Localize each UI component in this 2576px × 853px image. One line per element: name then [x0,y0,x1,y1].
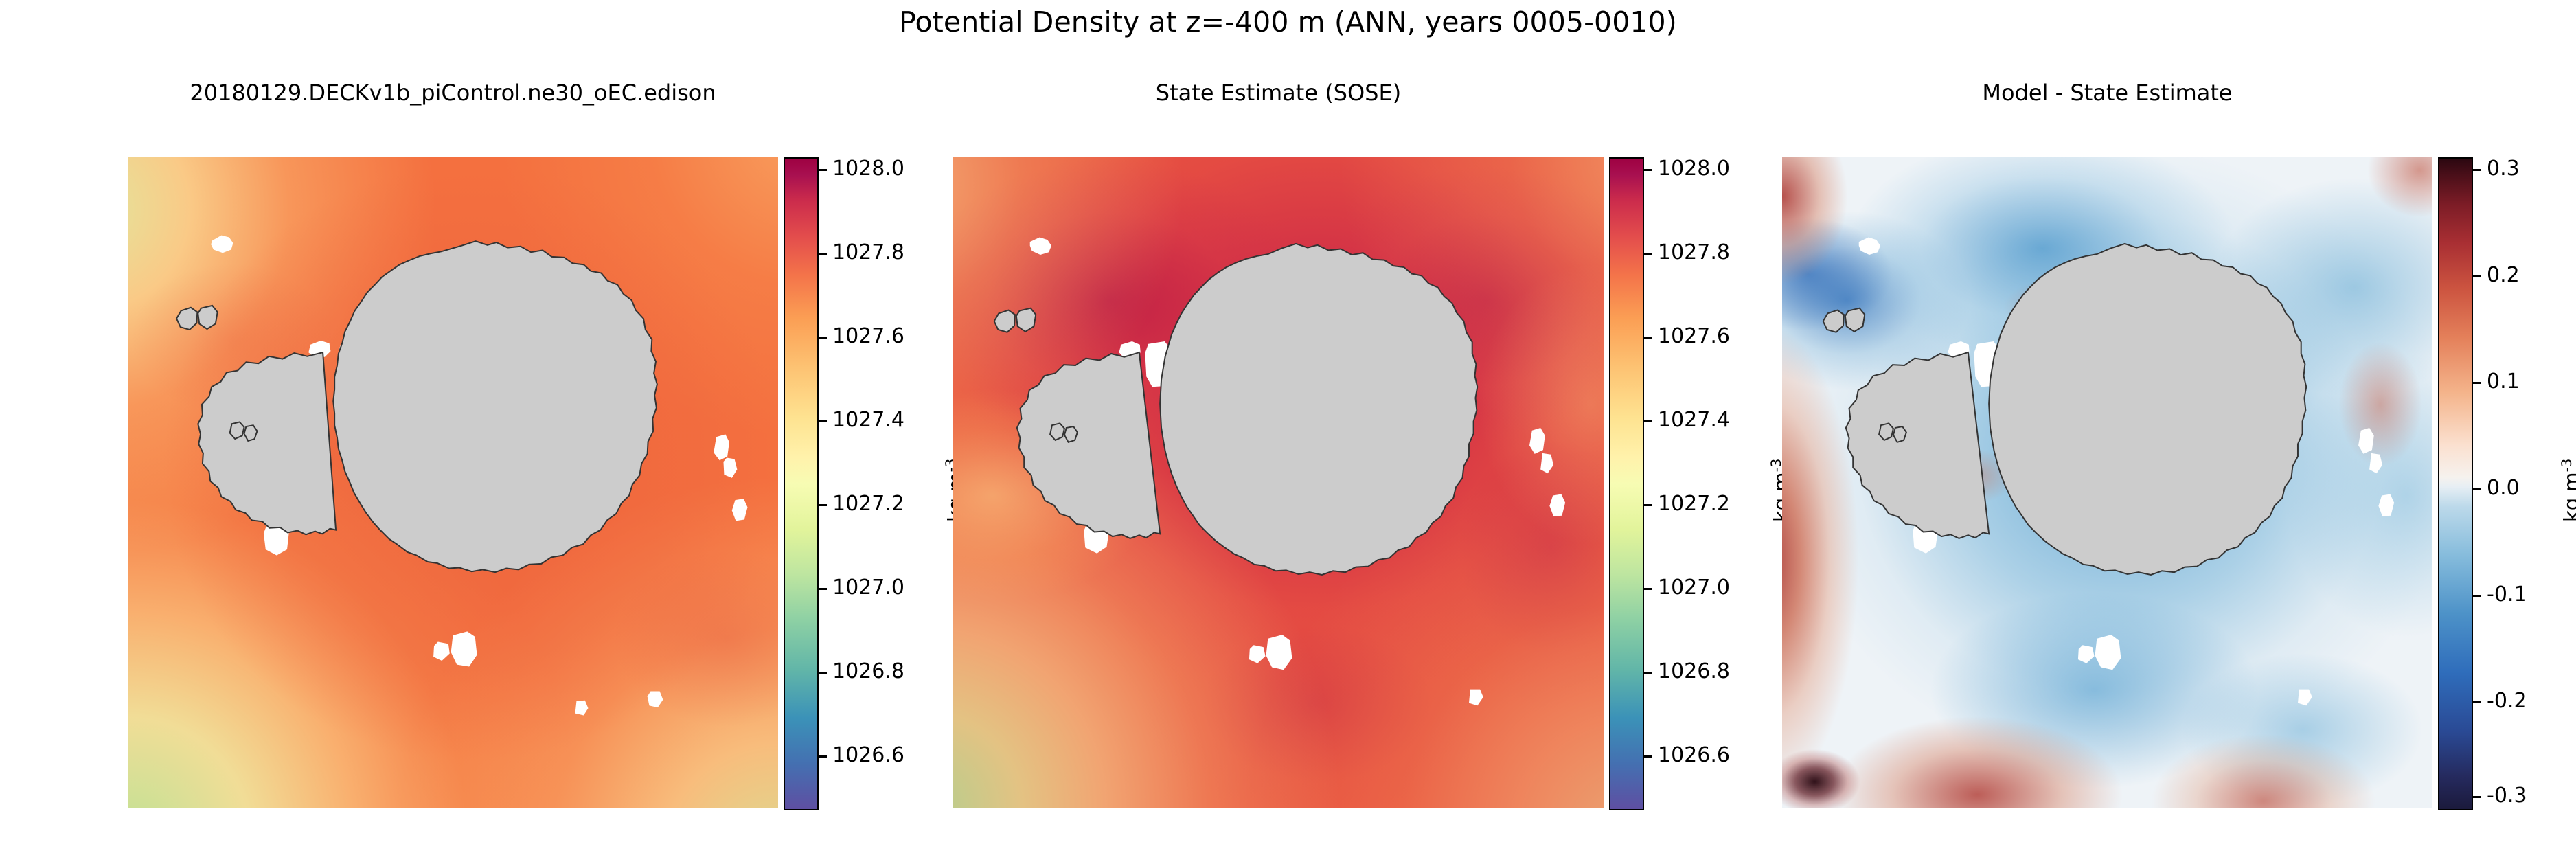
map-panel-difference[interactable] [1782,157,2432,808]
antarctica-coastline-difference [1782,157,2432,808]
cb1-tick-label: 1028.0 [1658,159,1730,179]
colorbar-difference[interactable] [2438,157,2473,810]
colorbar-difference-gradient [2439,159,2472,809]
colorbar-state-estimate-ticks: 1028.0 1027.8 1027.6 1027.4 1027.2 1027.… [1643,157,1787,808]
cb2-tick-label: 0.0 [2487,478,2520,499]
colorbar-state-estimate[interactable] [1609,157,1644,810]
cb1-tick-label: 1027.6 [1658,326,1730,347]
cb1-tick-label: 1026.8 [1658,661,1730,682]
panel-title-state-estimate: State Estimate (SOSE) [953,80,1604,106]
cb0-tick-label: 1027.0 [832,578,904,598]
cb2-unit-base: kg m [2560,472,2576,522]
antarctic-peninsula-difference [1846,352,1989,538]
antarctica-coastline-state-estimate [953,157,1604,808]
antarctica-landmass-model [333,241,657,572]
cb0-tick-label: 1027.8 [832,242,904,263]
cb0-tick-label: 1026.8 [832,661,904,682]
map-panel-state-estimate[interactable] [953,157,1604,808]
cb2-tick-label: -0.2 [2487,691,2527,712]
cb2-tick-label: 0.1 [2487,372,2520,392]
colorbar-model[interactable] [784,157,819,810]
figure-canvas: Potential Density at z=-400 m (ANN, year… [0,0,2576,853]
antarctica-landmass-sose [1160,244,1477,575]
colorbar-model-ticks: 1028.0 1027.8 1027.6 1027.4 1027.2 1027.… [817,157,961,808]
map-panel-model[interactable] [128,157,778,808]
cb2-unit-exponent: -3 [2559,459,2575,473]
antarctic-peninsula-model [198,352,336,534]
antarctica-landmass-difference [1989,244,2306,575]
antarctica-coastline-model [128,157,778,808]
cb0-tick-label: 1028.0 [832,159,904,179]
cb0-tick-label: 1026.6 [832,745,904,766]
panel-title-difference: Model - State Estimate [1782,80,2432,106]
figure-title: Potential Density at z=-400 m (ANN, year… [0,5,2576,38]
cb1-tick-label: 1027.0 [1658,578,1730,598]
colorbar-state-estimate-gradient [1610,159,1643,809]
cb1-tick-label: 1027.8 [1658,242,1730,263]
cb2-tick-label: 0.2 [2487,265,2520,286]
cb1-tick-label: 1027.4 [1658,410,1730,431]
cb0-tick-label: 1027.4 [832,410,904,431]
colorbar-difference-unit-label: kg m-3 [2559,459,2576,522]
cb1-tick-label: 1027.2 [1658,494,1730,514]
cb2-tick-label: -0.1 [2487,584,2527,605]
antarctic-peninsula-sose [1017,352,1160,538]
cb0-tick-label: 1027.6 [832,326,904,347]
cb2-tick-label: 0.3 [2487,159,2520,179]
panel-title-model: 20180129.DECKv1b_piControl.ne30_oEC.edis… [128,80,778,106]
cb2-tick-label: -0.3 [2487,786,2527,806]
colorbar-model-gradient [785,159,817,809]
cb1-tick-label: 1026.6 [1658,745,1730,766]
cb0-tick-label: 1027.2 [832,494,904,514]
